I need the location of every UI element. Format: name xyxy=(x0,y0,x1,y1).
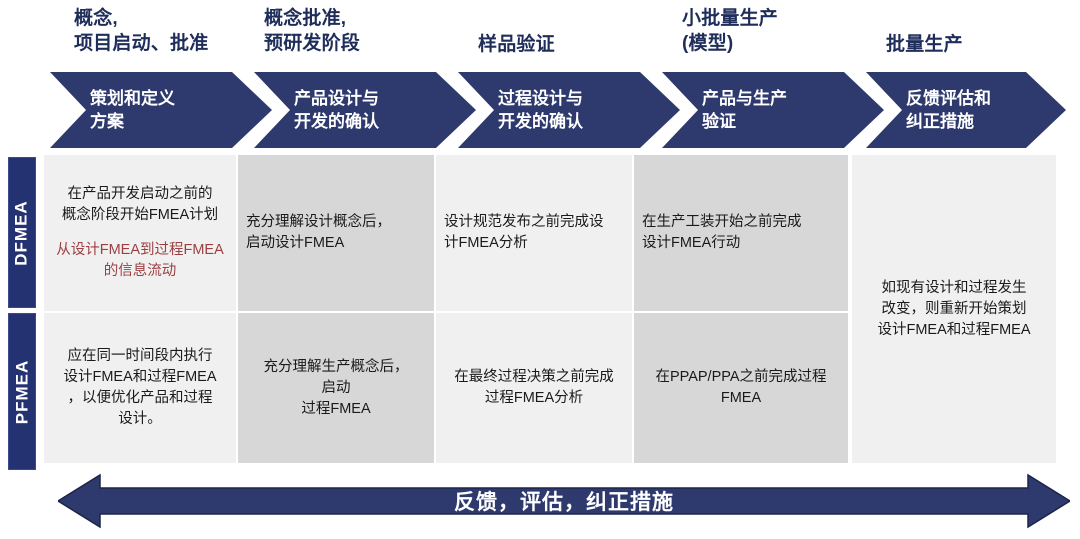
chevron-label-5: 反馈评估和 纠正措施 xyxy=(906,87,991,133)
cell-pfmea-3-text: 在最终过程决策之前完成 过程FMEA分析 xyxy=(444,367,624,409)
phase-caption-1: 概念, 项目启动、批准 xyxy=(74,6,254,56)
cell-pfmea-3: 在最终过程决策之前完成 过程FMEA分析 xyxy=(436,313,632,463)
row-label-pfmea-text: PFMEA xyxy=(12,359,32,424)
cell-merged-last-column-text: 如现有设计和过程发生 改变，则重新开始策划 设计FMEA和过程FMEA xyxy=(860,278,1048,341)
chevron-phase-4[interactable]: 产品与生产 验证 xyxy=(662,72,884,148)
row-label-pfmea: PFMEA xyxy=(8,313,36,470)
chevron-label-1: 策划和定义 方案 xyxy=(90,87,175,133)
cell-pfmea-4: 在PPAP/PPA之前完成过程 FMEA xyxy=(634,313,848,463)
fmea-timeline-diagram: 概念, 项目启动、批准 概念批准, 预研发阶段 样品验证 小批量生产 (模型) … xyxy=(0,0,1080,539)
cell-dfmea-4-text: 在生产工装开始之前完成 设计FMEA行动 xyxy=(642,212,840,254)
cell-pfmea-1-text: 应在同一时间段内执行 设计FMEA和过程FMEA ，以便优化产品和过程 设计。 xyxy=(52,346,228,430)
phase-caption-4: 小批量生产 (模型) xyxy=(682,6,862,56)
chevron-label-2: 产品设计与 开发的确认 xyxy=(294,87,379,133)
cell-pfmea-2: 充分理解生产概念后， 启动 过程FMEA xyxy=(238,313,434,463)
phase-caption-5: 批量生产 xyxy=(886,32,1066,57)
chevron-phase-5[interactable]: 反馈评估和 纠正措施 xyxy=(866,72,1066,148)
chevron-label-3: 过程设计与 开发的确认 xyxy=(498,87,583,133)
cell-dfmea-2: 充分理解设计概念后， 启动设计FMEA xyxy=(238,155,434,311)
cell-pfmea-1: 应在同一时间段内执行 设计FMEA和过程FMEA ，以便优化产品和过程 设计。 xyxy=(44,313,236,463)
cell-merged-last-column: 如现有设计和过程发生 改变，则重新开始策划 设计FMEA和过程FMEA xyxy=(852,155,1056,463)
row-label-dfmea-text: DFMEA xyxy=(12,200,32,265)
cell-dfmea-1-text: 在产品开发启动之前的 概念阶段开始FMEA计划 xyxy=(62,186,218,223)
cell-dfmea-3-text: 设计规范发布之前完成设 计FMEA分析 xyxy=(444,212,624,254)
row-label-dfmea: DFMEA xyxy=(8,157,36,308)
cell-dfmea-1-note: 从设计FMEA到过程FMEA的信息流动 xyxy=(52,240,228,282)
feedback-arrow-shape xyxy=(58,473,1070,529)
cell-dfmea-2-text: 充分理解设计概念后， 启动设计FMEA xyxy=(246,212,426,254)
chevron-phase-2[interactable]: 产品设计与 开发的确认 xyxy=(254,72,476,148)
cell-dfmea-4: 在生产工装开始之前完成 设计FMEA行动 xyxy=(634,155,848,311)
chevron-phase-1[interactable]: 策划和定义 方案 xyxy=(50,72,272,148)
cell-dfmea-1: 在产品开发启动之前的 概念阶段开始FMEA计划 从设计FMEA到过程FMEA的信… xyxy=(44,155,236,311)
feedback-arrow xyxy=(58,473,1070,529)
phase-caption-3: 样品验证 xyxy=(478,32,658,57)
chevron-phase-3[interactable]: 过程设计与 开发的确认 xyxy=(458,72,680,148)
chevron-label-4: 产品与生产 验证 xyxy=(702,87,787,133)
phase-caption-2: 概念批准, 预研发阶段 xyxy=(264,6,444,56)
cell-pfmea-4-text: 在PPAP/PPA之前完成过程 FMEA xyxy=(642,367,840,409)
cell-pfmea-2-text: 充分理解生产概念后， 启动 过程FMEA xyxy=(246,357,426,420)
cell-dfmea-3: 设计规范发布之前完成设 计FMEA分析 xyxy=(436,155,632,311)
